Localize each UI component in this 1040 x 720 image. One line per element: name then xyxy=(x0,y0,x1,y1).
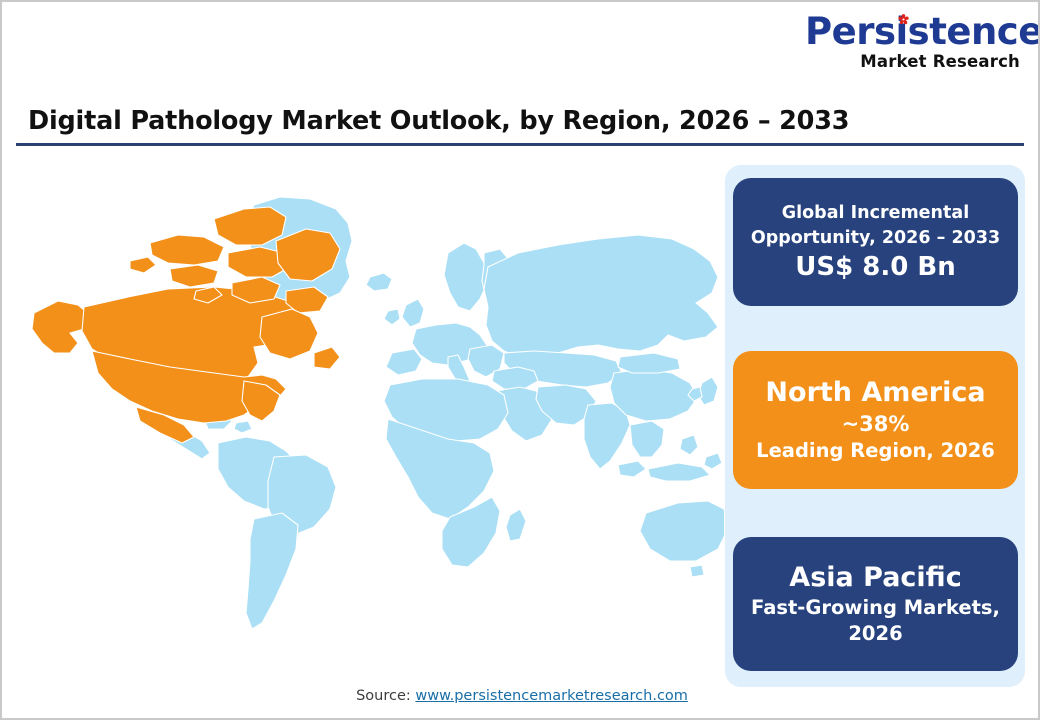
page-title: Digital Pathology Market Outlook, by Reg… xyxy=(28,106,849,136)
leading-region-name: North America xyxy=(765,376,985,410)
world-map xyxy=(18,157,724,677)
opportunity-label-line1: Global Incremental xyxy=(782,201,969,226)
company-logo: Persistence Market Research xyxy=(805,12,1020,74)
fast-growing-region-name: Asia Pacific xyxy=(789,561,961,595)
map-region-north-america xyxy=(32,207,340,443)
infographic-canvas: Persistence Market Research Digital Path… xyxy=(0,0,1040,720)
fast-growing-region-card: Asia Pacific Fast-Growing Markets, 2026 xyxy=(733,537,1018,671)
opportunity-label-line2: Opportunity, 2026 – 2033 xyxy=(751,226,1000,251)
red-flower-dot-icon xyxy=(898,14,909,25)
leading-region-share: ~38% xyxy=(842,410,910,438)
source-label: Source: xyxy=(356,688,415,704)
source-line: Source: www.persistencemarketresearch.co… xyxy=(2,688,1040,704)
opportunity-value: US$ 8.0 Bn xyxy=(795,251,955,283)
leading-region-caption: Leading Region, 2026 xyxy=(756,438,995,464)
leading-region-card: North America ~38% Leading Region, 2026 xyxy=(733,351,1018,489)
fast-growing-caption-line1: Fast-Growing Markets, xyxy=(751,595,1000,621)
title-divider xyxy=(16,143,1024,146)
source-link[interactable]: www.persistencemarketresearch.com xyxy=(415,688,688,704)
logo-tagline-text: Market Research xyxy=(805,53,1020,71)
highlights-panel: Global Incremental Opportunity, 2026 – 2… xyxy=(725,165,1025,687)
logo-brand-text: Persistence xyxy=(805,12,1020,52)
fast-growing-caption-line2: 2026 xyxy=(848,621,902,647)
global-incremental-opportunity-card: Global Incremental Opportunity, 2026 – 2… xyxy=(733,178,1018,306)
